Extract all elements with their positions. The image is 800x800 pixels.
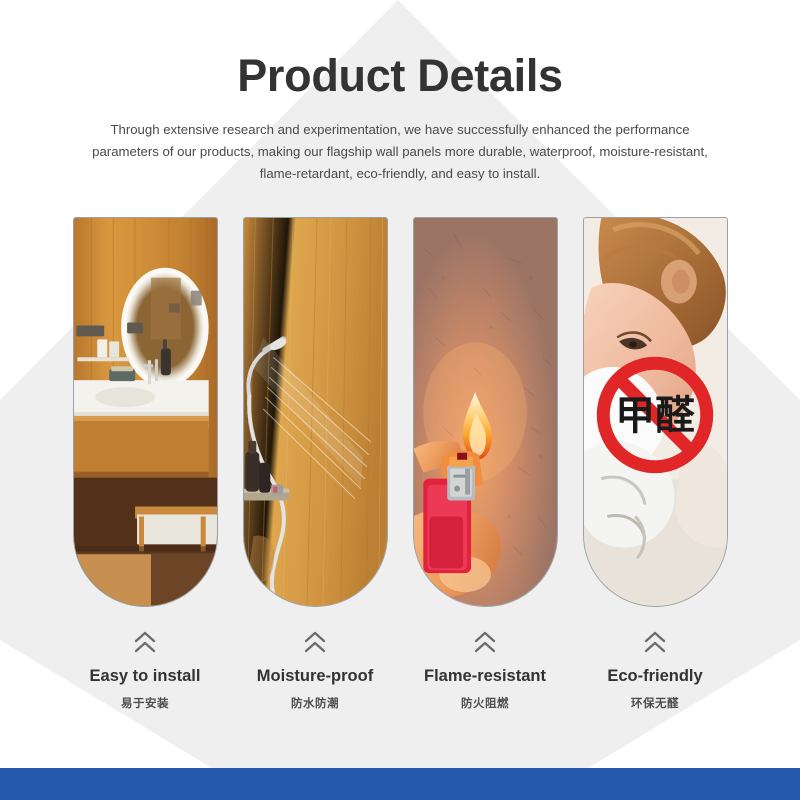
feature-photo-baby-no-formaldehyde: 甲醛 <box>583 217 728 607</box>
feature-item-eco-friendly[interactable]: 甲醛 Eco-friendly 环保无醛 <box>583 217 728 711</box>
feature-item-easy-to-install[interactable]: Easy to install 易于安装 <box>73 217 218 711</box>
bathroom-vanity-illustration <box>74 218 217 606</box>
feature-subtitle: 环保无醛 <box>631 695 679 711</box>
feature-subtitle: 防水防潮 <box>291 695 339 711</box>
feature-photo-flame <box>413 217 558 607</box>
page-title: Product Details <box>0 0 800 101</box>
feature-title: Easy to install <box>90 667 201 686</box>
formaldehyde-label: 甲醛 <box>615 393 695 439</box>
feature-title: Eco-friendly <box>607 667 702 686</box>
baby-no-formaldehyde-illustration: 甲醛 <box>584 218 727 606</box>
double-chevron-up-icon <box>302 629 328 655</box>
feature-title: Flame-resistant <box>424 667 546 686</box>
feature-photo-bathroom <box>73 217 218 607</box>
double-chevron-up-icon <box>132 629 158 655</box>
double-chevron-up-icon <box>472 629 498 655</box>
feature-subtitle: 防火阻燃 <box>461 695 509 711</box>
feature-photo-shower <box>243 217 388 607</box>
feature-subtitle: 易于安装 <box>121 695 169 711</box>
feature-item-flame-resistant[interactable]: Flame-resistant 防火阻燃 <box>413 217 558 711</box>
shower-on-wood-panel-illustration <box>244 218 387 606</box>
feature-title: Moisture-proof <box>257 667 373 686</box>
header: Product Details Through extensive resear… <box>0 0 800 185</box>
footer-bar <box>0 768 800 800</box>
feature-item-moisture-proof[interactable]: Moisture-proof 防水防潮 <box>243 217 388 711</box>
lighter-flame-on-wall-illustration <box>414 218 557 606</box>
page-subtitle: Through extensive research and experimen… <box>88 119 713 185</box>
double-chevron-up-icon <box>642 629 668 655</box>
feature-list: Easy to install 易于安装 <box>0 217 800 711</box>
product-details-page: Product Details Through extensive resear… <box>0 0 800 800</box>
